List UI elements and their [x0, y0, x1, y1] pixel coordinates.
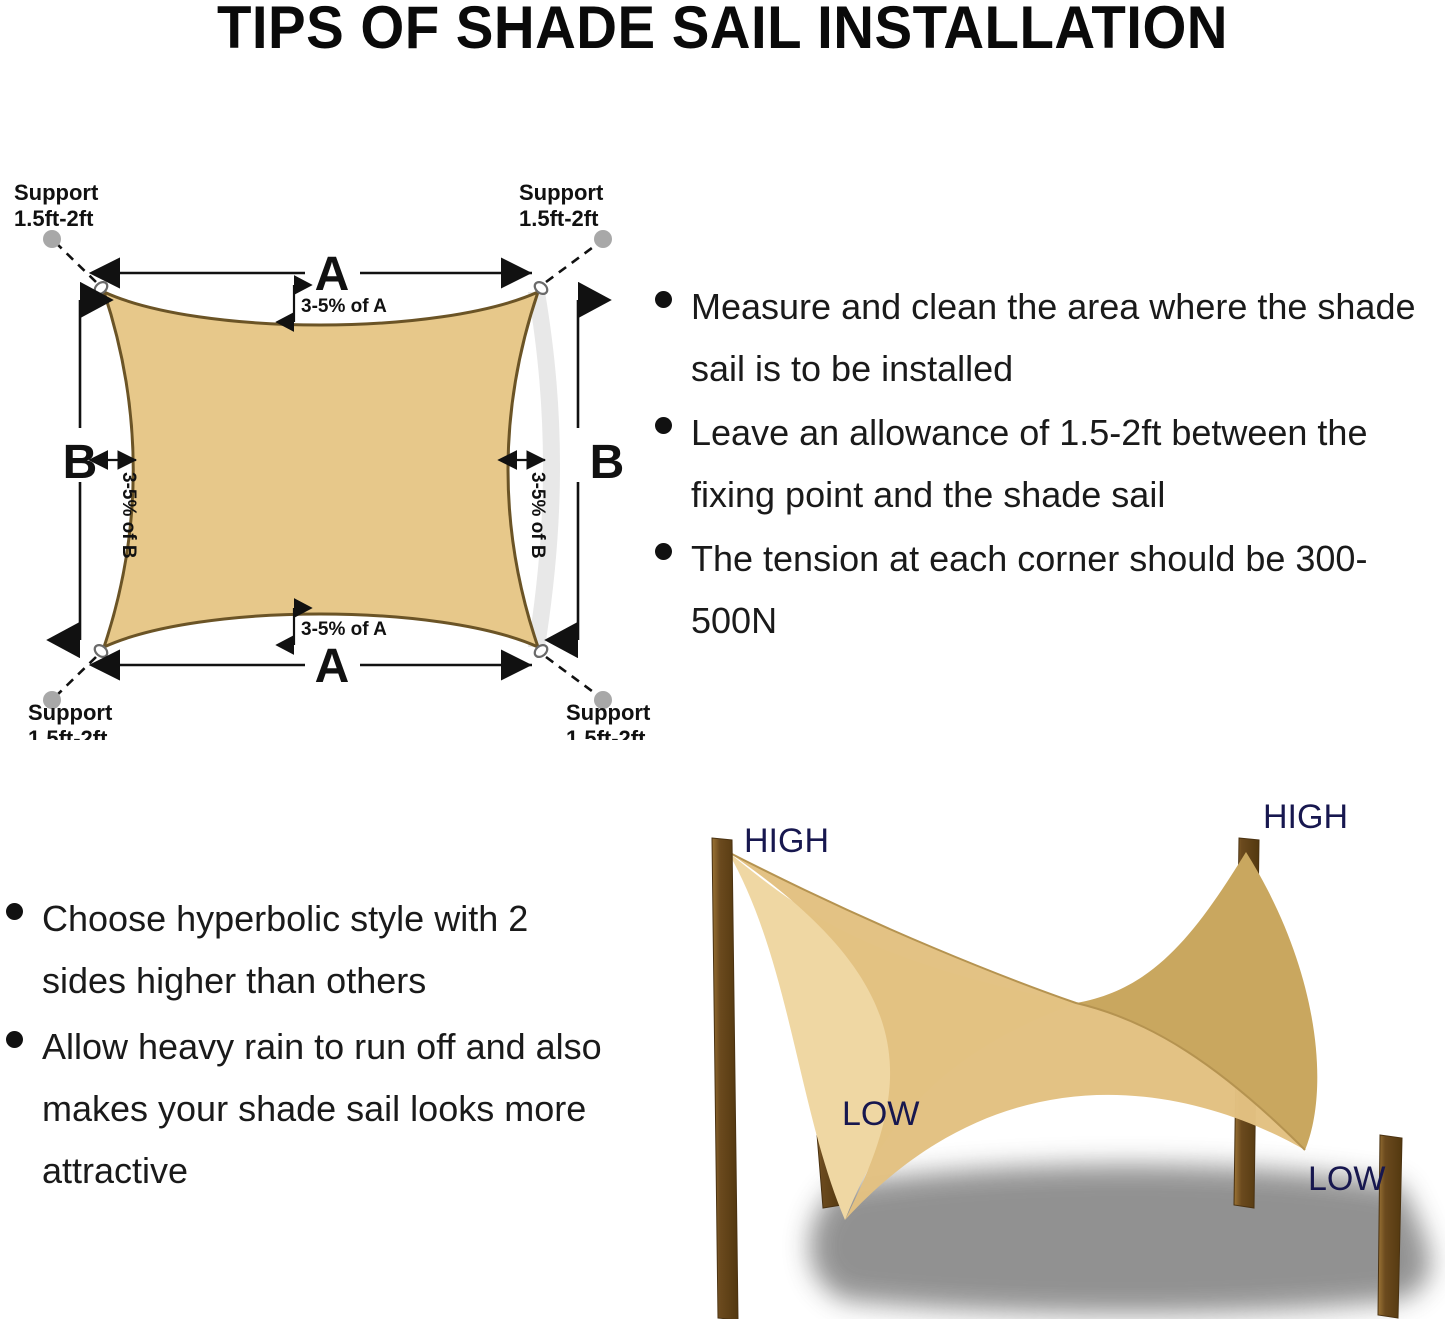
dimension-b-left: B — [63, 300, 98, 640]
label-high-right: HIGH — [1263, 798, 1348, 836]
support-label-bottom-right-line1: Support — [566, 700, 651, 725]
label-a-top: A — [315, 248, 350, 301]
bullet-dot-icon — [655, 291, 672, 308]
callout-left-sag: 3-5% of B — [107, 460, 139, 559]
support-label-bottom-left-line2: 1.5ft-2ft — [28, 726, 108, 740]
callout-right-sag: 3-5% of B — [516, 460, 548, 559]
support-label-bottom-left-line1: Support — [28, 700, 113, 725]
support-label-top-right-line2: 1.5ft-2ft — [519, 206, 599, 231]
list-item: Measure and clean the area where the sha… — [655, 276, 1445, 400]
bullet-dot-icon — [6, 903, 23, 920]
tip-text: The tension at each corner should be 300… — [691, 528, 1439, 652]
dimension-a-bottom: A — [120, 640, 532, 693]
bullet-dot-icon — [6, 1031, 23, 1048]
hyperbolic-sail-illustration: HIGH HIGH LOW LOW — [680, 790, 1445, 1319]
label-sag-bottom: 3-5% of A — [301, 619, 387, 640]
tip-text: Leave an allowance of 1.5-2ft between th… — [691, 402, 1439, 526]
dimension-b-right: B — [578, 300, 624, 640]
support-label-bottom-right-line2: 1.5ft-2ft — [566, 726, 646, 740]
label-b-left: B — [63, 436, 98, 489]
label-low-right: LOW — [1308, 1160, 1385, 1198]
infographic-canvas: TIPS OF SHADE SAIL INSTALLATION — [0, 0, 1445, 1319]
tip-text: Allow heavy rain to run off and also mak… — [42, 1016, 622, 1202]
label-sag-left: 3-5% of B — [118, 472, 139, 559]
sail-edge-halo — [528, 292, 560, 647]
tip-text: Choose hyperbolic style with 2 sides hig… — [42, 888, 622, 1012]
page-title: TIPS OF SHADE SAIL INSTALLATION — [43, 0, 1401, 60]
tips-list-right: Measure and clean the area where the sha… — [655, 276, 1445, 654]
tips-list-left: Choose hyperbolic style with 2 sides hig… — [6, 888, 626, 1206]
label-a-bottom: A — [315, 640, 350, 693]
bullet-dot-icon — [655, 543, 672, 560]
support-label-top-right-line1: Support — [519, 180, 604, 205]
label-sag-top: 3-5% of A — [301, 296, 387, 317]
label-sag-right: 3-5% of B — [527, 472, 548, 559]
rectangular-sail-diagram: A 3-5% of A A 3-5% of A B — [0, 160, 660, 740]
label-b-right: B — [590, 436, 625, 489]
support-label-top-left-line2: 1.5ft-2ft — [14, 206, 94, 231]
label-high-left: HIGH — [744, 822, 829, 860]
list-item: The tension at each corner should be 300… — [655, 528, 1445, 652]
shade-sail-shape — [104, 292, 538, 647]
support-label-top-left-line1: Support — [14, 180, 99, 205]
tip-text: Measure and clean the area where the sha… — [691, 276, 1439, 400]
dimension-a-top: A — [120, 248, 532, 301]
post-high-left — [712, 838, 738, 1319]
label-low-left: LOW — [842, 1095, 919, 1133]
list-item: Allow heavy rain to run off and also mak… — [6, 1016, 626, 1202]
bullet-dot-icon — [655, 417, 672, 434]
list-item: Leave an allowance of 1.5-2ft between th… — [655, 402, 1445, 526]
list-item: Choose hyperbolic style with 2 sides hig… — [6, 888, 626, 1012]
